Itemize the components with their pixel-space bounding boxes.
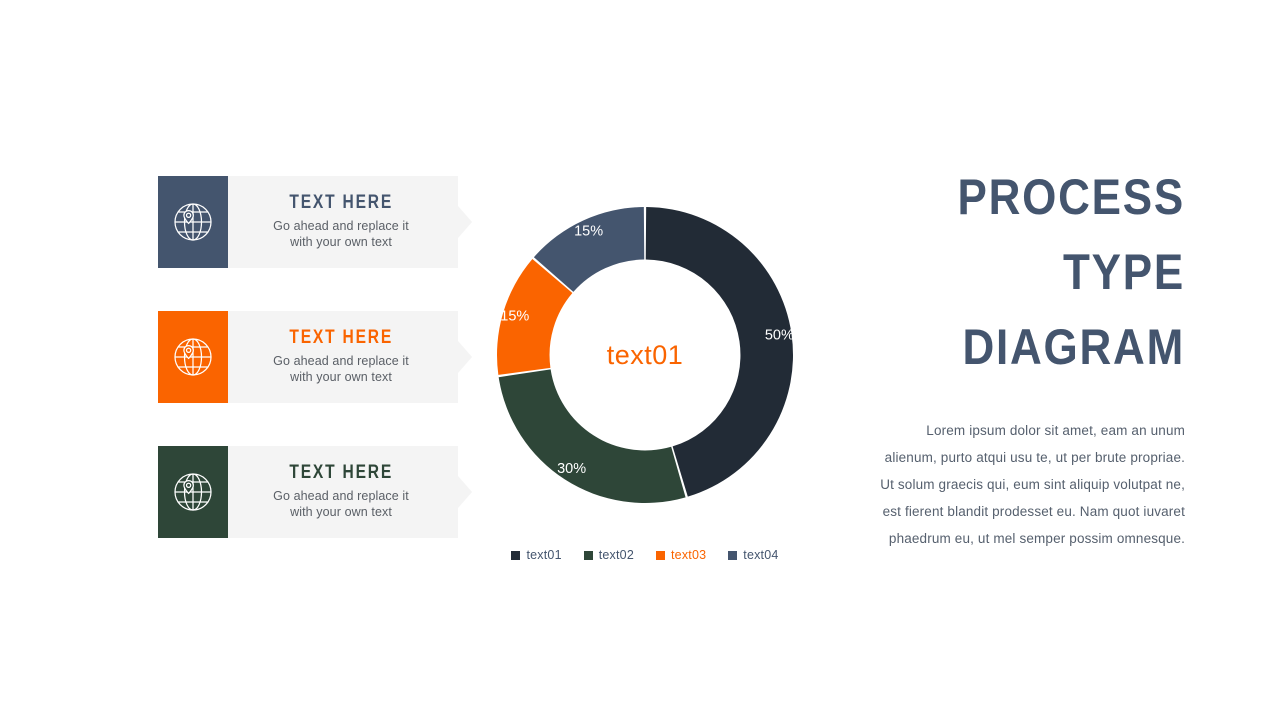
donut-chart-svg: 50%30%15%15% xyxy=(480,190,810,520)
page-title: PROCESS TYPE DIAGRAM xyxy=(917,160,1185,385)
card-body: TEXT HERE Go ahead and replace it with y… xyxy=(228,311,458,403)
card-subtitle-line-2: with your own text xyxy=(290,370,392,386)
card-title: TEXT HERE xyxy=(289,193,393,214)
page-title-line-1: PROCESS TYPE xyxy=(917,160,1185,310)
legend-label: text03 xyxy=(671,548,706,562)
donut-slice-value-label: 15% xyxy=(500,309,529,325)
list-item[interactable]: TEXT HERE Go ahead and replace it with y… xyxy=(158,446,458,538)
right-panel: PROCESS TYPE DIAGRAM Lorem ipsum dolor s… xyxy=(880,160,1185,552)
body-paragraph: Lorem ipsum dolor sit amet, eam an unum … xyxy=(880,417,1185,552)
slide-canvas: TEXT HERE Go ahead and replace it with y… xyxy=(0,0,1280,720)
globe-pin-icon xyxy=(170,469,216,515)
card-subtitle-line-2: with your own text xyxy=(290,505,392,521)
globe-pin-icon xyxy=(170,199,216,245)
legend-swatch-icon xyxy=(728,551,737,560)
card-arrow-notch xyxy=(458,476,472,508)
legend-swatch-icon xyxy=(584,551,593,560)
list-item[interactable]: TEXT HERE Go ahead and replace it with y… xyxy=(158,311,458,403)
card-arrow-notch xyxy=(458,206,472,238)
legend-item[interactable]: text02 xyxy=(584,548,634,562)
donut-slice-value-label: 15% xyxy=(574,223,603,239)
globe-pin-icon xyxy=(170,334,216,380)
donut-chart: 50%30%15%15% text01 xyxy=(480,190,810,520)
card-icon-block xyxy=(158,176,228,268)
legend-item[interactable]: text04 xyxy=(728,548,778,562)
page-title-line-2: DIAGRAM xyxy=(917,310,1185,385)
legend-swatch-icon xyxy=(511,551,520,560)
legend-swatch-icon xyxy=(656,551,665,560)
card-icon-block xyxy=(158,311,228,403)
card-icon-block xyxy=(158,446,228,538)
card-body: TEXT HERE Go ahead and replace it with y… xyxy=(228,176,458,268)
legend-label: text01 xyxy=(526,548,561,562)
card-subtitle-line-2: with your own text xyxy=(290,235,392,251)
card-title: TEXT HERE xyxy=(289,328,393,349)
legend-label: text02 xyxy=(599,548,634,562)
donut-slice-value-label: 50% xyxy=(765,328,794,344)
legend-item[interactable]: text03 xyxy=(656,548,706,562)
donut-slice-value-label: 30% xyxy=(557,461,586,477)
legend-item[interactable]: text01 xyxy=(511,548,561,562)
list-item[interactable]: TEXT HERE Go ahead and replace it with y… xyxy=(158,176,458,268)
card-body: TEXT HERE Go ahead and replace it with y… xyxy=(228,446,458,538)
card-subtitle-line-1: Go ahead and replace it xyxy=(273,489,409,505)
legend-label: text04 xyxy=(743,548,778,562)
card-subtitle-line-1: Go ahead and replace it xyxy=(273,354,409,370)
process-card-list: TEXT HERE Go ahead and replace it with y… xyxy=(158,176,458,538)
card-arrow-notch xyxy=(458,341,472,373)
donut-slice[interactable] xyxy=(499,369,686,503)
chart-legend: text01text02text03text04 xyxy=(480,548,810,562)
card-subtitle-line-1: Go ahead and replace it xyxy=(273,219,409,235)
card-title: TEXT HERE xyxy=(289,463,393,484)
